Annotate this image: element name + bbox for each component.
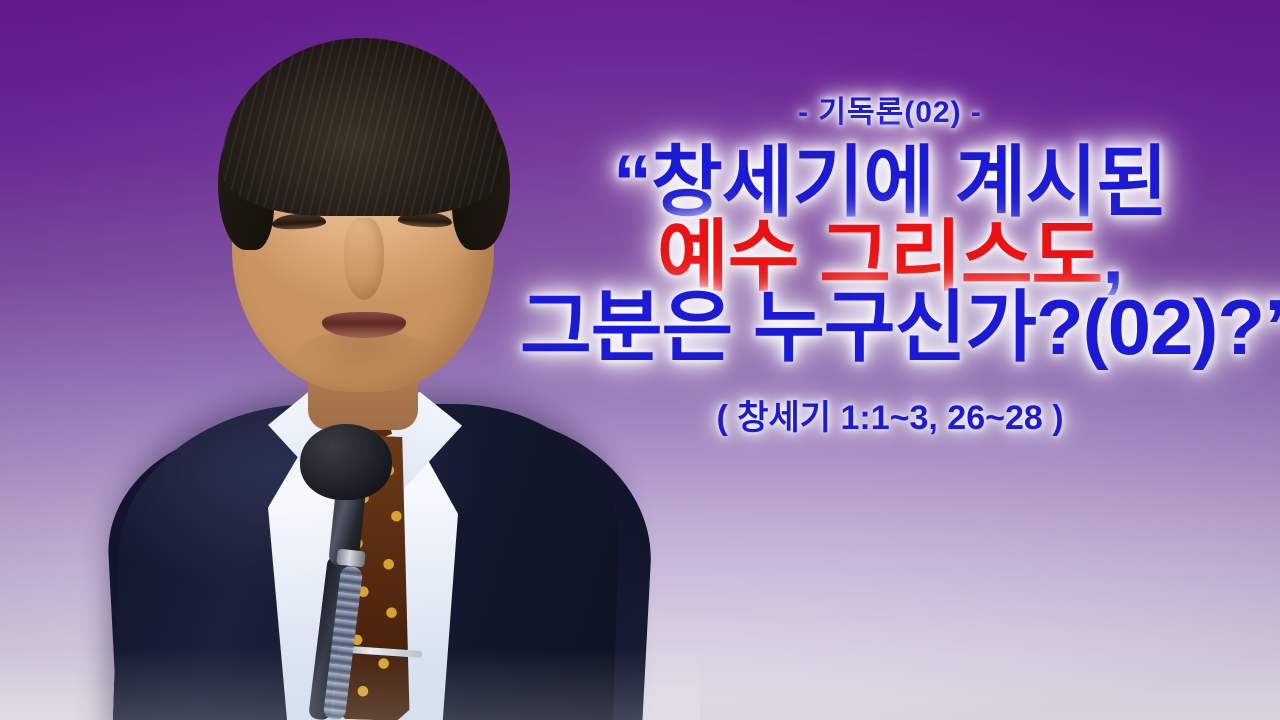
- hair: [222, 38, 504, 216]
- microphone-windscreen: [300, 424, 392, 500]
- main-title: “창세기에 계시된 예수 그리스도, 그분은 누구신가?(02)?”: [520, 143, 1260, 368]
- chin-shadow: [290, 330, 440, 388]
- microphone-ring: [336, 549, 366, 568]
- nose: [344, 218, 384, 300]
- title-overlay: - 기독론(02) - “창세기에 계시된 예수 그리스도, 그분은 누구신가?…: [520, 96, 1260, 439]
- video-thumbnail-frame: - 기독론(02) - “창세기에 계시된 예수 그리스도, 그분은 누구신가?…: [0, 0, 1280, 720]
- scripture-reference: ( 창세기 1:1~3, 26~28 ): [520, 390, 1260, 439]
- title-line-3: 그분은 누구신가?(02)?”: [520, 288, 1260, 368]
- series-label: - 기독론(02) -: [520, 96, 1260, 129]
